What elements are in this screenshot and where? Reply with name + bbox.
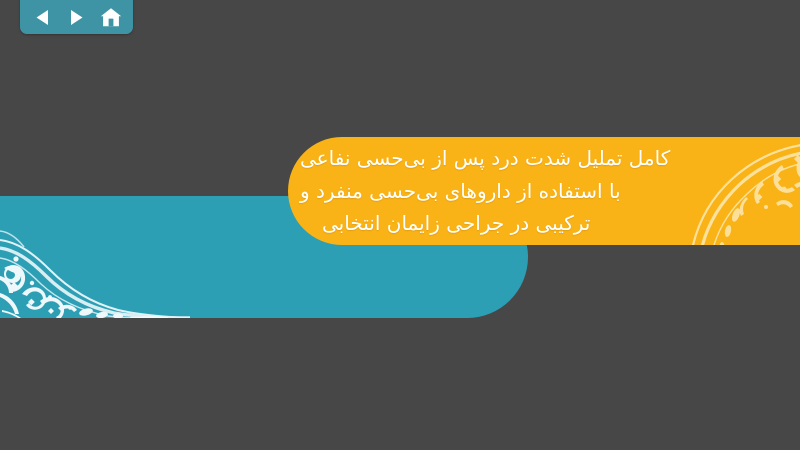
presentation-slide: کامل تملیل شدت درد پس از بی‌حسی نفاعی با…	[0, 0, 800, 450]
triangle-right-icon	[69, 9, 84, 26]
title-line-2: با استفاده از داروهای بی‌حسی منفرد و	[300, 175, 621, 207]
forward-button[interactable]	[64, 5, 90, 29]
title-line-3: ترکیبی در جراحی زایمان انتخابی	[300, 207, 590, 239]
navigation-bar	[20, 0, 133, 34]
home-icon	[100, 7, 122, 28]
title-line-1: کامل تملیل شدت درد پس از بی‌حسی نفاعی	[300, 142, 670, 174]
arabesque-corner-ornament	[0, 198, 190, 318]
back-button[interactable]	[29, 5, 55, 29]
home-button[interactable]	[98, 5, 124, 29]
slide-title: کامل تملیل شدت درد پس از بی‌حسی نفاعی با…	[300, 136, 720, 246]
triangle-left-icon	[35, 9, 50, 26]
